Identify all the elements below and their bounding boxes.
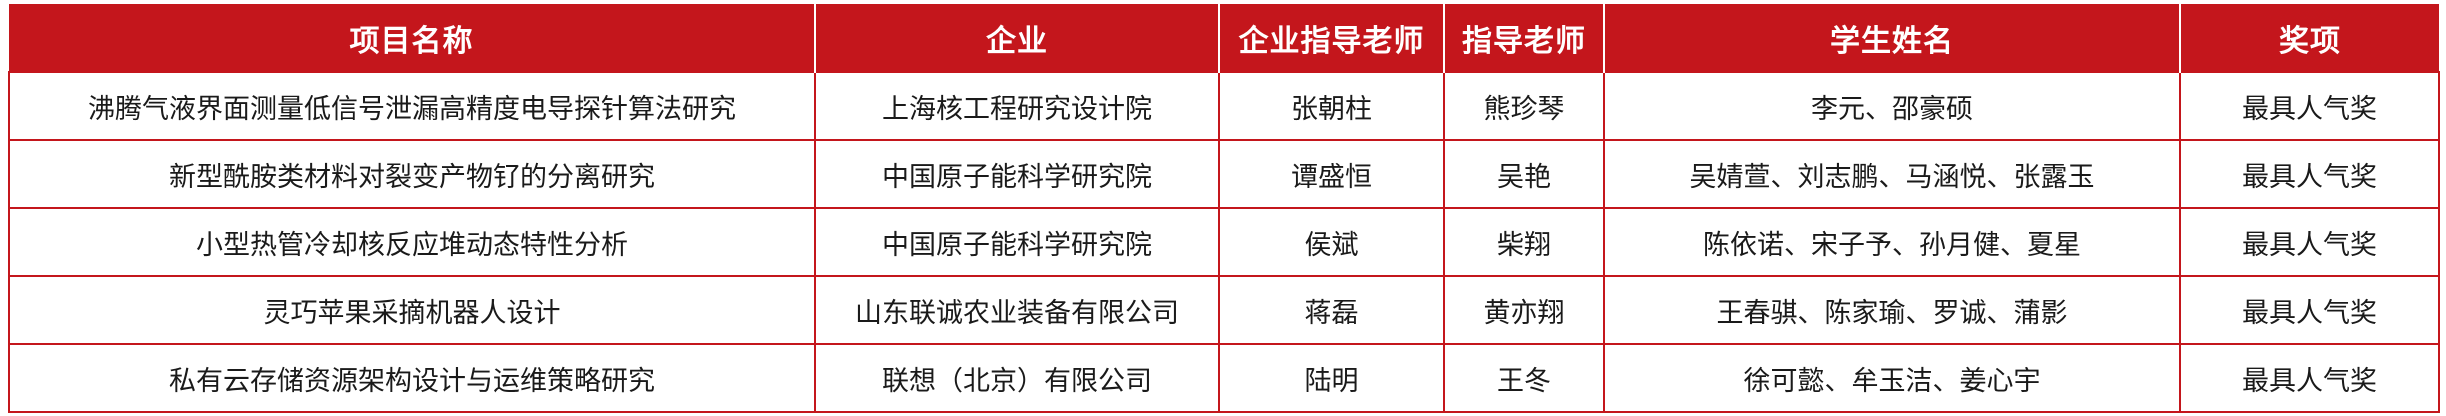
column-header-enterprise-mentor: 企业指导老师 — [1219, 4, 1444, 72]
cell-project: 小型热管冷却核反应堆动态特性分析 — [9, 208, 815, 276]
cell-award: 最具人气奖 — [2180, 344, 2439, 412]
award-table-container: 项目名称 企业 企业指导老师 指导老师 学生姓名 奖项 沸腾气液界面测量低信号泄… — [0, 0, 2446, 416]
cell-award: 最具人气奖 — [2180, 208, 2439, 276]
cell-award: 最具人气奖 — [2180, 276, 2439, 344]
cell-company: 中国原子能科学研究院 — [815, 140, 1219, 208]
award-winners-table: 项目名称 企业 企业指导老师 指导老师 学生姓名 奖项 沸腾气液界面测量低信号泄… — [8, 4, 2440, 413]
table-header-row: 项目名称 企业 企业指导老师 指导老师 学生姓名 奖项 — [9, 4, 2439, 72]
cell-students: 王春骐、陈家瑜、罗诚、蒲影 — [1604, 276, 2180, 344]
cell-award: 最具人气奖 — [2180, 72, 2439, 140]
table-row: 沸腾气液界面测量低信号泄漏高精度电导探针算法研究 上海核工程研究设计院 张朝柱 … — [9, 72, 2439, 140]
table-row: 灵巧苹果采摘机器人设计 山东联诚农业装备有限公司 蒋磊 黄亦翔 王春骐、陈家瑜、… — [9, 276, 2439, 344]
cell-company: 上海核工程研究设计院 — [815, 72, 1219, 140]
cell-enterprise-mentor: 谭盛恒 — [1219, 140, 1444, 208]
cell-project: 新型酰胺类材料对裂变产物钌的分离研究 — [9, 140, 815, 208]
cell-project: 沸腾气液界面测量低信号泄漏高精度电导探针算法研究 — [9, 72, 815, 140]
cell-enterprise-mentor: 陆明 — [1219, 344, 1444, 412]
cell-enterprise-mentor: 蒋磊 — [1219, 276, 1444, 344]
cell-mentor: 吴艳 — [1444, 140, 1604, 208]
table-row: 小型热管冷却核反应堆动态特性分析 中国原子能科学研究院 侯斌 柴翔 陈依诺、宋子… — [9, 208, 2439, 276]
table-header: 项目名称 企业 企业指导老师 指导老师 学生姓名 奖项 — [9, 4, 2439, 72]
cell-students: 徐可懿、牟玉洁、姜心宇 — [1604, 344, 2180, 412]
cell-award: 最具人气奖 — [2180, 140, 2439, 208]
column-header-mentor: 指导老师 — [1444, 4, 1604, 72]
table-row: 私有云存储资源架构设计与运维策略研究 联想（北京）有限公司 陆明 王冬 徐可懿、… — [9, 344, 2439, 412]
column-header-company: 企业 — [815, 4, 1219, 72]
cell-students: 陈依诺、宋子予、孙月健、夏星 — [1604, 208, 2180, 276]
cell-company: 联想（北京）有限公司 — [815, 344, 1219, 412]
column-header-project: 项目名称 — [9, 4, 815, 72]
cell-mentor: 柴翔 — [1444, 208, 1604, 276]
cell-enterprise-mentor: 张朝柱 — [1219, 72, 1444, 140]
cell-enterprise-mentor: 侯斌 — [1219, 208, 1444, 276]
cell-project: 灵巧苹果采摘机器人设计 — [9, 276, 815, 344]
cell-mentor: 王冬 — [1444, 344, 1604, 412]
table-body: 沸腾气液界面测量低信号泄漏高精度电导探针算法研究 上海核工程研究设计院 张朝柱 … — [9, 72, 2439, 412]
cell-students: 李元、邵豪硕 — [1604, 72, 2180, 140]
column-header-students: 学生姓名 — [1604, 4, 2180, 72]
cell-students: 吴婧萱、刘志鹏、马涵悦、张露玉 — [1604, 140, 2180, 208]
cell-company: 中国原子能科学研究院 — [815, 208, 1219, 276]
cell-mentor: 黄亦翔 — [1444, 276, 1604, 344]
cell-mentor: 熊珍琴 — [1444, 72, 1604, 140]
cell-project: 私有云存储资源架构设计与运维策略研究 — [9, 344, 815, 412]
cell-company: 山东联诚农业装备有限公司 — [815, 276, 1219, 344]
table-row: 新型酰胺类材料对裂变产物钌的分离研究 中国原子能科学研究院 谭盛恒 吴艳 吴婧萱… — [9, 140, 2439, 208]
column-header-award: 奖项 — [2180, 4, 2439, 72]
